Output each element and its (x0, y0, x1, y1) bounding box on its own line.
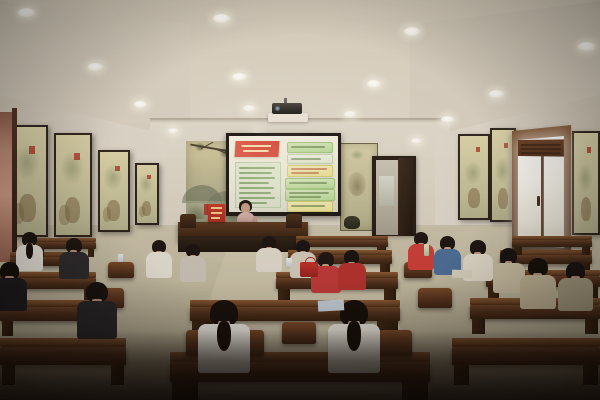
desk-right-r3-leg-r (585, 319, 598, 334)
desk-left-r0-leg-r (88, 249, 94, 257)
handbag-handle (305, 257, 316, 264)
chair-left-1 (108, 262, 134, 278)
desk-left-r4-front (0, 347, 126, 365)
water-cup (286, 258, 292, 267)
attendee-f1-ponytail (217, 321, 231, 351)
seating-area (0, 0, 600, 400)
conference-room-photo (0, 0, 600, 400)
attendee-c3-torso (256, 248, 282, 272)
desk-right-r4-leg-r (583, 365, 598, 385)
paper-sheet (318, 299, 345, 311)
chair-front-center (282, 322, 316, 344)
desk-right-r0-front (512, 240, 592, 247)
desk-center-r4-leg-l (172, 382, 198, 400)
attendee-l3-torso (0, 278, 27, 311)
notebook-open (452, 270, 472, 279)
desk-left-r4-leg-l (2, 365, 15, 385)
desk-left-r3-leg-l (2, 321, 13, 336)
desk-right-r0-leg-r (582, 247, 590, 255)
attendee-f2-ponytail (347, 321, 361, 351)
desk-right-r3-leg-l (472, 319, 485, 334)
attendee-r5-torso (520, 275, 556, 310)
water-bottle (424, 244, 429, 256)
desk-center-r4-leg-r (402, 382, 428, 400)
desk-right-r4-leg-l (454, 365, 469, 385)
attendee-c6-torso (338, 263, 366, 290)
water-cup-2 (118, 254, 123, 262)
attendee-r1-torso (408, 244, 434, 269)
handbag-red (300, 262, 318, 277)
desk-right-r4-front (452, 347, 600, 365)
attendee-l2-torso (59, 252, 88, 280)
attendee-c1-torso (146, 252, 172, 277)
chair-right-2 (418, 288, 452, 308)
attendee-c2-torso (180, 256, 206, 281)
attendee-l4-torso (77, 301, 117, 340)
desk-left-r4-top (0, 338, 126, 347)
attendee-r6-torso (558, 278, 593, 311)
desk-left-r4-leg-r (111, 365, 124, 385)
desk-right-r4-top (452, 338, 600, 347)
